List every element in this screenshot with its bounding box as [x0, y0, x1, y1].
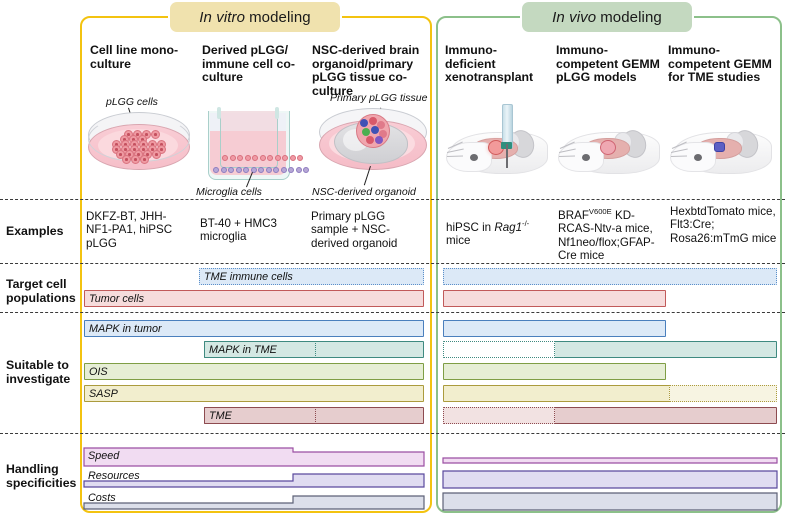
in-vitro-tab-prefix: In vitro	[199, 9, 249, 26]
bar-label-tumor-cells: Tumor cells	[85, 293, 144, 305]
bar-tumor-cells-invitro: Tumor cells	[84, 290, 424, 307]
caption-nsc-derived-organoid: NSC-derived organoid	[312, 186, 416, 198]
bar-label-sasp: SASP	[85, 388, 118, 400]
primary-tumor-ball	[356, 114, 390, 148]
bar-tumor-cells-invivo	[443, 290, 666, 307]
bar-label-speed: Speed	[88, 450, 119, 462]
microglia-cell-row	[213, 167, 309, 173]
bar-ois-invitro: OIS	[84, 363, 424, 380]
plgg-cell-cluster	[110, 130, 166, 160]
bar-ois-invivo	[443, 363, 666, 380]
row-label-suitable-to-investigate: Suitable to investigate	[6, 358, 78, 386]
in-vivo-group-tab: In vivomodeling	[522, 2, 692, 32]
caption-microglia-cells: Microglia cells	[196, 186, 262, 198]
bar-label-ois: OIS	[85, 366, 108, 378]
mouse-xenotransplant-illustration	[444, 118, 552, 180]
column-header-cell-line-mono-culture: Cell line mono-culture	[90, 44, 182, 71]
row-separator-examples	[0, 263, 785, 264]
transwell-illustration	[200, 105, 296, 187]
in-vivo-tab-prefix: In vivo	[552, 9, 600, 26]
organoid-dish-illustration	[316, 106, 428, 182]
bar-tme-immune-cells-invivo	[443, 268, 777, 285]
in-vitro-tab-suffix: modeling	[249, 9, 311, 26]
example-derived-co-culture: BT-40 + HMC3 microglia	[200, 217, 300, 244]
example-gemm-tme-studies: HexbtdTomato mice, Flt3:Cre; Rosa26:mTmG…	[670, 205, 782, 245]
in-vitro-group-tab: In vitromodeling	[170, 2, 340, 32]
bar-label-tme-immune-cells: TME immune cells	[200, 271, 293, 283]
in-vivo-tab-suffix: modeling	[600, 9, 662, 26]
bar-label-resources: Resources	[88, 470, 140, 482]
bar-sasp-invitro: SASP	[84, 385, 424, 402]
bar-tme-invivo-dotted-overlay	[443, 407, 555, 424]
column-header-gemm-tme-studies: Immuno-competent GEMM for TME studies	[668, 44, 778, 85]
example-immunodeficient-xeno: hiPSC in Rag1-/- mice	[446, 217, 550, 248]
petri-dish-illustration	[84, 108, 192, 180]
example-nsc-organoid-co-culture: Primary pLGG sample + NSC-derived organo…	[311, 210, 419, 250]
column-header-immunodeficient-xeno: Immuno-deficient xenotransplant	[445, 44, 545, 85]
mouse-gemm-tme-illustration	[668, 118, 776, 180]
example-gemm-plgg-models: BRAFV600E KD-RCAS-Ntv-a mice, Nf1neo/flo…	[558, 205, 664, 262]
bar-sasp-invivo-dotted-tail	[669, 385, 777, 402]
caption-primary-plgg-tissue-text: Primary pLGG tissue	[330, 92, 427, 104]
row-label-target-cell-populations: Target cell populations	[6, 277, 78, 305]
bar-mapk-in-tme-invitro-dotted-overlay	[204, 341, 316, 358]
row-separator-top	[0, 199, 785, 200]
caption-plgg-cells: pLGG cells	[106, 96, 158, 108]
bar-tme-invitro-dotted-overlay	[204, 407, 316, 424]
in-vivo-group-frame	[436, 16, 782, 513]
row-label-handling-specificities: Handling specificities	[6, 462, 78, 490]
bar-sasp-invivo	[443, 385, 671, 402]
example-cell-line-mono-culture: DKFZ-BT, JHH-NF1-PA1, hiPSC pLGG	[86, 210, 190, 250]
mouse-gemm-plgg-illustration	[556, 118, 664, 180]
column-header-derived-co-culture: Derived pLGG/ immune cell co-culture	[202, 44, 298, 85]
plgg-cell-row	[222, 155, 303, 161]
row-label-examples: Examples	[6, 224, 78, 238]
bar-mapk-in-tumor-invivo	[443, 320, 666, 337]
caption-primary-plgg-tissue: Primary pLGG tissue	[330, 92, 427, 104]
bar-mapk-in-tme-invivo-dotted-overlay	[443, 341, 555, 358]
column-header-gemm-plgg-models: Immuno-competent GEMM pLGG models	[556, 44, 660, 85]
row-separator-suitable	[0, 433, 785, 434]
bar-label-mapk-in-tumor: MAPK in tumor	[85, 323, 162, 335]
bar-mapk-in-tumor-invitro: MAPK in tumor	[84, 320, 424, 337]
bar-label-costs: Costs	[88, 492, 116, 504]
bar-tme-immune-cells-invitro: TME immune cells	[199, 268, 424, 285]
row-separator-target	[0, 312, 785, 313]
column-header-nsc-organoid-co-culture: NSC-derived brain organoid/primary pLGG …	[312, 44, 422, 98]
